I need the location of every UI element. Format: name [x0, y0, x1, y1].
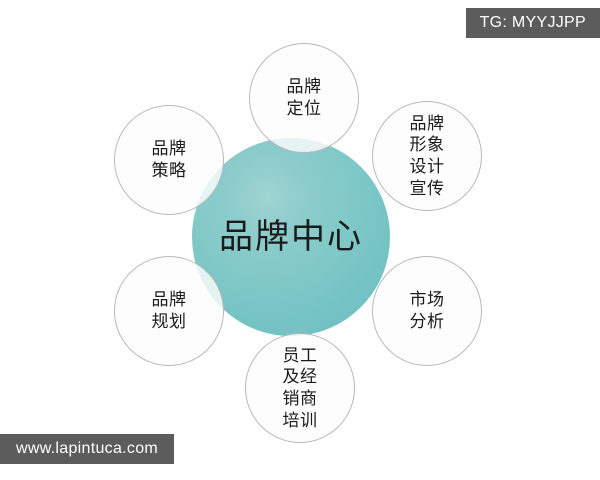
satellite-label-brand-planning: 品牌规划	[138, 289, 200, 333]
satellite-label-brand-positioning: 品牌定位	[273, 76, 335, 120]
satellite-circle-market-analysis[interactable]: 市场分析	[372, 256, 482, 366]
satellite-label-employee-distributor-training: 员工及经销商培训	[271, 345, 329, 432]
satellite-circle-brand-planning[interactable]: 品牌规划	[114, 256, 224, 366]
brand-center-diagram: 品牌中心 品牌定位 品牌形象设计宣传 市场分析 员工及经销商培训 品牌规划 品牌…	[0, 0, 600, 480]
satellite-label-brand-image-design-promotion: 品牌形象设计宣传	[398, 113, 456, 200]
satellite-label-brand-strategy: 品牌策略	[138, 138, 200, 182]
watermark-top-right-text: TG: MYYJJPP	[480, 14, 586, 32]
satellite-circle-employee-distributor-training[interactable]: 员工及经销商培训	[245, 333, 355, 443]
watermark-top-right: TG: MYYJJPP	[466, 8, 600, 38]
satellite-circle-brand-strategy[interactable]: 品牌策略	[114, 105, 224, 215]
watermark-bottom-left: www.lapintuca.com	[0, 434, 174, 464]
watermark-bottom-left-text: www.lapintuca.com	[16, 440, 158, 458]
satellite-circle-brand-image-design-promotion[interactable]: 品牌形象设计宣传	[372, 101, 482, 211]
satellite-label-market-analysis: 市场分析	[396, 289, 458, 333]
satellite-circle-brand-positioning[interactable]: 品牌定位	[249, 43, 359, 153]
hub-label: 品牌中心	[219, 220, 363, 254]
